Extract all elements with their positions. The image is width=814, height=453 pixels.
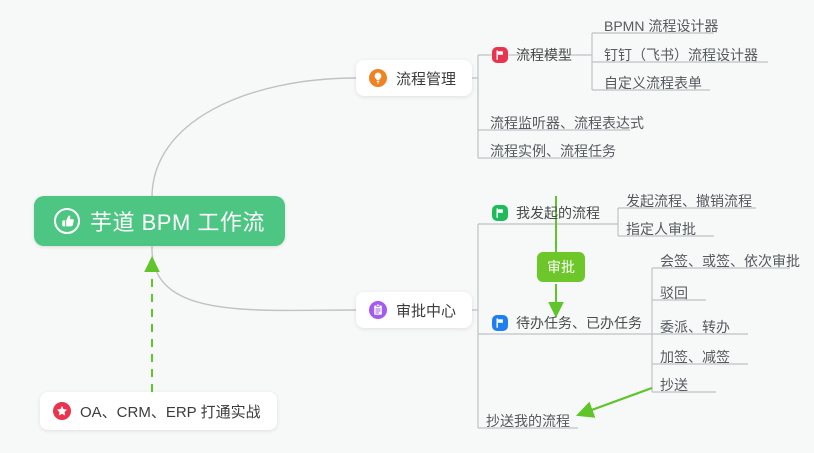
leaf-reject-label: 驳回: [660, 283, 688, 303]
clipboard-icon: [368, 300, 388, 320]
flag-icon: [492, 47, 508, 63]
leaf-delegate-transfer-label: 委派、转办: [660, 317, 730, 337]
branch-approval-center-label: 审批中心: [396, 300, 456, 321]
thumbs-up-icon: [54, 208, 80, 234]
node-process-model[interactable]: 流程模型: [492, 42, 572, 68]
leaf-add-remove-sign-label: 加签、减签: [660, 347, 730, 367]
leaf-dingtalk-designer[interactable]: 钉钉（飞书）流程设计器: [604, 39, 758, 67]
leaf-start-cancel-process[interactable]: 发起流程、撤销流程: [626, 185, 752, 213]
leaf-bpmn-designer[interactable]: BPMN 流程设计器: [604, 10, 718, 38]
node-my-initiated[interactable]: 我发起的流程: [492, 200, 600, 226]
leaf-delegate-transfer[interactable]: 委派、转办: [660, 311, 730, 339]
flag-icon: [492, 205, 508, 221]
node-todo-done-tasks[interactable]: 待办任务、已办任务: [492, 310, 642, 336]
footnote-label: OA、CRM、ERP 打通实战: [80, 401, 261, 422]
leaf-cc-to-me[interactable]: 抄送我的流程: [486, 405, 570, 433]
leaf-reject[interactable]: 驳回: [660, 277, 688, 305]
approval-badge-label: 审批: [547, 257, 575, 277]
leaf-countersign-label: 会签、或签、依次审批: [660, 251, 800, 271]
leaf-start-cancel-process-label: 发起流程、撤销流程: [626, 191, 752, 211]
branch-process-management[interactable]: 流程管理: [356, 60, 472, 96]
leaf-cc-to-me-label: 抄送我的流程: [486, 411, 570, 431]
leaf-countersign[interactable]: 会签、或签、依次审批: [660, 245, 800, 273]
leaf-process-instance[interactable]: 流程实例、流程任务: [490, 135, 616, 163]
root-node[interactable]: 芋道 BPM 工作流: [34, 196, 285, 246]
branch-approval-center[interactable]: 审批中心: [356, 292, 472, 328]
approval-badge: 审批: [537, 252, 585, 282]
leaf-custom-form-label: 自定义流程表单: [604, 73, 702, 93]
node-todo-done-tasks-label: 待办任务、已办任务: [516, 313, 642, 333]
leaf-dingtalk-designer-label: 钉钉（飞书）流程设计器: [604, 45, 758, 65]
flag-icon: [492, 315, 508, 331]
leaf-carbon-copy[interactable]: 抄送: [660, 369, 688, 397]
footnote-node[interactable]: OA、CRM、ERP 打通实战: [40, 392, 277, 430]
leaf-bpmn-designer-label: BPMN 流程设计器: [604, 16, 718, 36]
leaf-carbon-copy-label: 抄送: [660, 375, 688, 395]
leaf-process-instance-label: 流程实例、流程任务: [490, 141, 616, 161]
node-my-initiated-label: 我发起的流程: [516, 203, 600, 223]
mindmap-canvas: 芋道 BPM 工作流 流程管理 流程模型 BPMN 流程设计器 钉钉（飞书）流程…: [0, 0, 814, 453]
node-process-model-label: 流程模型: [516, 45, 572, 65]
leaf-assignee-approval-label: 指定人审批: [626, 219, 696, 239]
leaf-add-remove-sign[interactable]: 加签、减签: [660, 341, 730, 369]
leaf-custom-form[interactable]: 自定义流程表单: [604, 67, 702, 95]
leaf-process-listener-label: 流程监听器、流程表达式: [490, 113, 644, 133]
star-icon: [52, 401, 72, 421]
lightbulb-icon: [368, 68, 388, 88]
leaf-process-listener[interactable]: 流程监听器、流程表达式: [490, 107, 644, 135]
root-label: 芋道 BPM 工作流: [90, 205, 265, 237]
branch-process-management-label: 流程管理: [396, 68, 456, 89]
leaf-assignee-approval[interactable]: 指定人审批: [626, 213, 696, 241]
